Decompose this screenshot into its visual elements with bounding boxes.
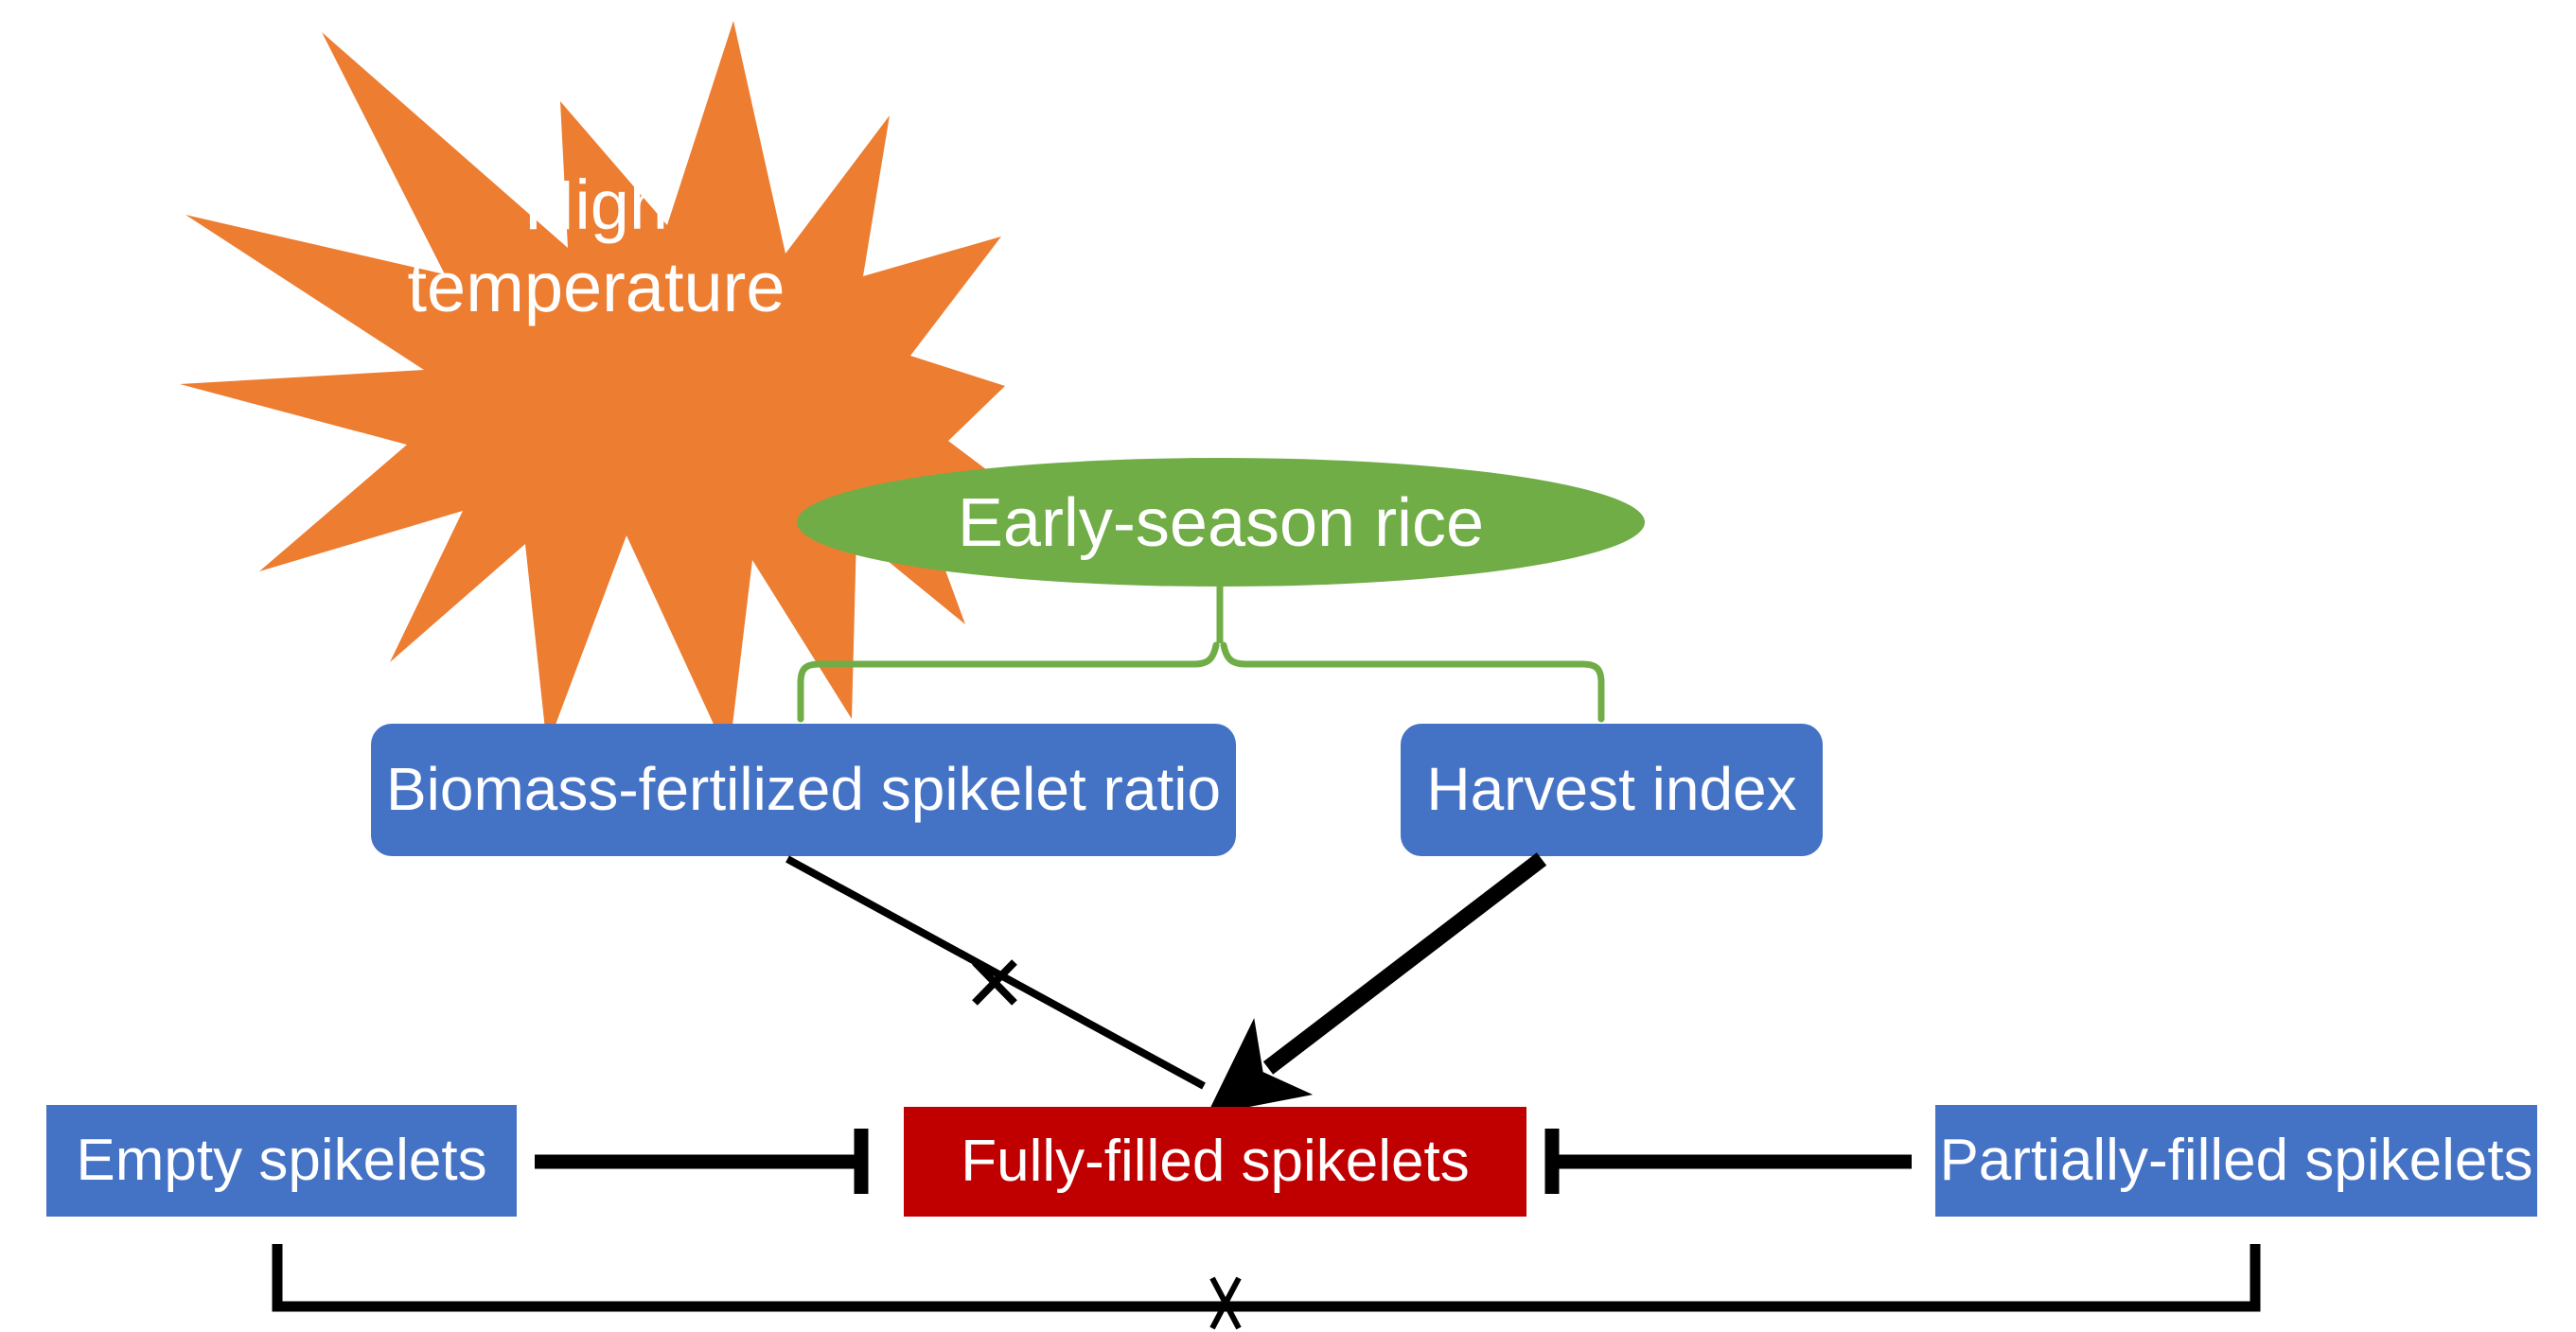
empty-spikelets-box[interactable] bbox=[46, 1105, 517, 1217]
biomass-to-fully-filled-line[interactable] bbox=[787, 859, 1204, 1086]
harvest-index-box[interactable] bbox=[1401, 724, 1823, 856]
empty-inhibits-fully-filled-connector[interactable] bbox=[535, 1129, 863, 1194]
empty-partially-bottom-bracket[interactable] bbox=[277, 1244, 2255, 1306]
early-season-rice-ellipse[interactable] bbox=[797, 458, 1645, 587]
fully-filled-spikelets-box[interactable] bbox=[904, 1107, 1526, 1217]
high-temperature-starburst[interactable] bbox=[180, 21, 1117, 757]
diagram-canvas: High temperature Early-season rice Bioma… bbox=[0, 0, 2576, 1332]
brace-left-green bbox=[801, 645, 1216, 719]
partially-inhibits-fully-filled-connector[interactable] bbox=[1552, 1129, 1912, 1194]
brace-right-green bbox=[1224, 645, 1601, 719]
harvest-to-fully-filled-arrow[interactable] bbox=[1268, 859, 1542, 1068]
diagram-vector-layer bbox=[0, 0, 2576, 1332]
partially-filled-spikelets-box[interactable] bbox=[1935, 1105, 2537, 1217]
biomass-fertilized-spikelet-ratio-box[interactable] bbox=[371, 724, 1236, 856]
